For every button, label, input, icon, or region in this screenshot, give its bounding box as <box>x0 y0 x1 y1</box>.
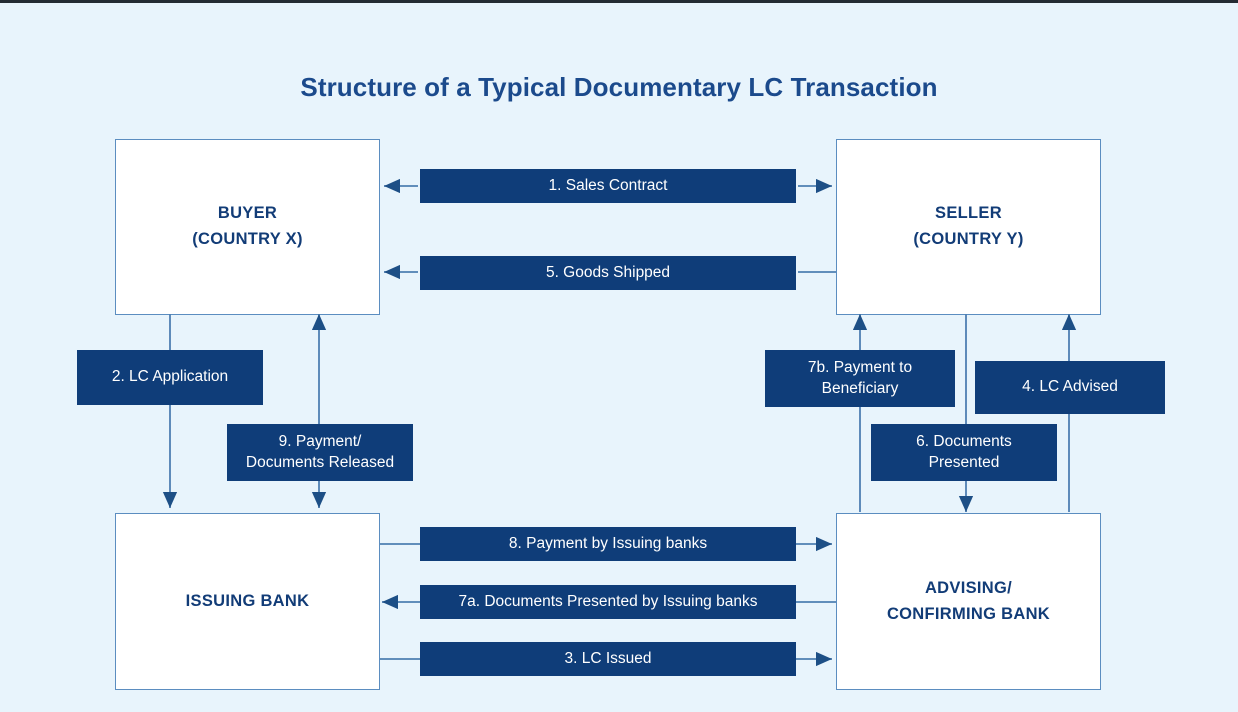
flow-label-step-3: 3. LC Issued <box>556 649 659 670</box>
node-buyer-line1: BUYER <box>218 204 277 222</box>
node-advising-bank-line1: ADVISING/ <box>925 579 1012 597</box>
node-buyer[interactable]: BUYER (COUNTRY X) <box>115 139 380 315</box>
flow-bar-step-3[interactable]: 3. LC Issued <box>420 642 796 676</box>
flow-bar-step-4[interactable]: 4. LC Advised <box>975 361 1165 414</box>
node-seller-line2: (COUNTRY Y) <box>913 230 1023 248</box>
node-seller-line1: SELLER <box>935 204 1002 222</box>
node-buyer-label: BUYER (COUNTRY X) <box>192 201 303 252</box>
flow-label-step-7b-line1: 7b. Payment to <box>800 358 920 379</box>
flow-bar-step-7a[interactable]: 7a. Documents Presented by Issuing banks <box>420 585 796 619</box>
node-issuing-bank-line1: ISSUING BANK <box>186 592 310 610</box>
flow-label-step-2: 2. LC Application <box>104 367 236 388</box>
flow-label-step-4: 4. LC Advised <box>1014 377 1126 398</box>
flow-bar-step-1[interactable]: 1. Sales Contract <box>420 169 796 203</box>
diagram-canvas: Structure of a Typical Documentary LC Tr… <box>0 0 1238 712</box>
node-issuing-bank-label: ISSUING BANK <box>186 589 310 615</box>
flow-bar-step-9[interactable]: 9. Payment/ Documents Released <box>227 424 413 481</box>
node-advising-bank-line2: CONFIRMING BANK <box>887 605 1050 623</box>
node-issuing-bank[interactable]: ISSUING BANK <box>115 513 380 690</box>
flow-bar-step-8[interactable]: 8. Payment by Issuing banks <box>420 527 796 561</box>
flow-label-step-8: 8. Payment by Issuing banks <box>501 534 715 555</box>
node-seller-label: SELLER (COUNTRY Y) <box>913 201 1023 252</box>
flow-bar-step-2[interactable]: 2. LC Application <box>77 350 263 405</box>
flow-bar-step-6[interactable]: 6. Documents Presented <box>871 424 1057 481</box>
node-buyer-line2: (COUNTRY X) <box>192 230 303 248</box>
flow-label-step-6-line2: Presented <box>921 453 1008 474</box>
page-title: Structure of a Typical Documentary LC Tr… <box>0 72 1238 103</box>
flow-bar-step-7b[interactable]: 7b. Payment to Beneficiary <box>765 350 955 407</box>
flow-label-step-7a: 7a. Documents Presented by Issuing banks <box>451 592 766 613</box>
flow-bar-step-5[interactable]: 5. Goods Shipped <box>420 256 796 290</box>
node-advising-bank-label: ADVISING/ CONFIRMING BANK <box>887 576 1050 627</box>
flow-label-step-6-line1: 6. Documents <box>908 432 1020 453</box>
flow-label-step-9-line2: Documents Released <box>238 453 402 474</box>
node-advising-bank[interactable]: ADVISING/ CONFIRMING BANK <box>836 513 1101 690</box>
flow-label-step-9-line1: 9. Payment/ <box>271 432 370 453</box>
flow-label-step-5: 5. Goods Shipped <box>538 263 678 284</box>
flow-label-step-7b-line2: Beneficiary <box>814 379 907 400</box>
node-seller[interactable]: SELLER (COUNTRY Y) <box>836 139 1101 315</box>
flow-label-step-1: 1. Sales Contract <box>541 176 676 197</box>
